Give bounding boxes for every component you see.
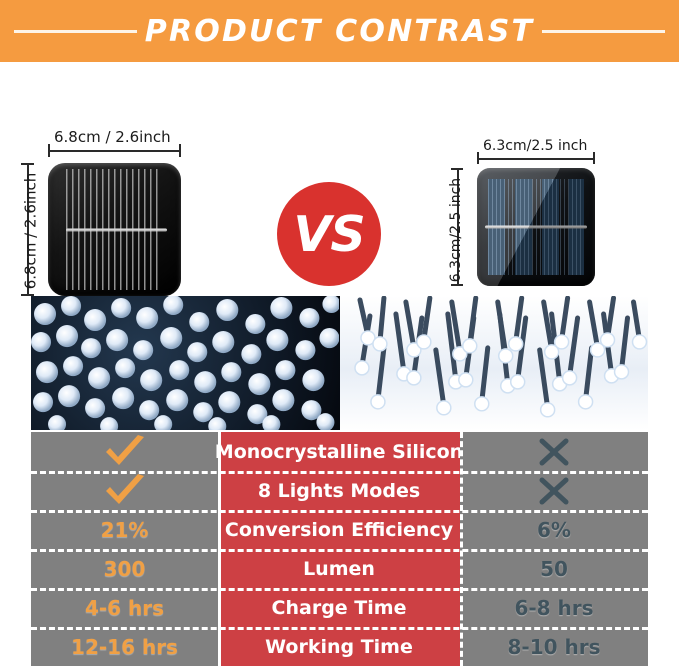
others-cell: 50 bbox=[460, 549, 648, 588]
ours-led-bulbs-icon bbox=[31, 296, 339, 430]
banner-inner: PRODUCT CONTRAST bbox=[0, 14, 679, 49]
ours-cell: 12-16 hrs bbox=[31, 627, 218, 666]
others-value: 50 bbox=[540, 557, 568, 581]
ours-width-dimension-line bbox=[48, 150, 181, 152]
ours-value: 300 bbox=[104, 557, 146, 581]
page-title: PRODUCT CONTRAST bbox=[137, 14, 542, 49]
vs-label: VS bbox=[293, 206, 364, 263]
feature-label: Lumen bbox=[303, 558, 375, 580]
ours-width-tick-left bbox=[48, 144, 50, 157]
row-divider bbox=[31, 471, 648, 474]
table-row: 8 Lights Modes bbox=[31, 471, 648, 510]
ours-cell: 4-6 hrs bbox=[31, 588, 218, 627]
others-solar-panel-image bbox=[477, 168, 595, 286]
others-value: 6-8 hrs bbox=[514, 596, 593, 620]
row-divider bbox=[31, 627, 648, 630]
banner-rule-left bbox=[14, 30, 137, 33]
others-height-tick-top bbox=[451, 168, 463, 170]
others-led-bulbs-icon bbox=[340, 296, 648, 430]
photo-comparison-strip bbox=[31, 296, 648, 430]
row-divider bbox=[31, 549, 648, 552]
ours-value: 21% bbox=[101, 518, 149, 542]
others-width-label: 6.3cm/2.5 inch bbox=[483, 138, 587, 154]
ours-panel-busbar bbox=[66, 228, 167, 231]
table-row: Monocrystalline Silicon bbox=[31, 432, 648, 471]
others-cell: 6-8 hrs bbox=[460, 588, 648, 627]
ours-width-label: 6.8cm / 2.6inch bbox=[54, 128, 171, 146]
feature-label: 8 Lights Modes bbox=[258, 480, 420, 502]
others-height-label: 6.3cm/2.5 inch bbox=[448, 178, 464, 282]
others-width-tick-right bbox=[593, 152, 595, 164]
ours-led-photo bbox=[31, 296, 340, 430]
ours-value: 12-16 hrs bbox=[71, 635, 178, 659]
others-value: 8-10 hrs bbox=[507, 635, 600, 659]
others-panel-gloss bbox=[477, 168, 595, 286]
cross-icon bbox=[537, 476, 571, 506]
feature-cell: 8 Lights Modes bbox=[218, 471, 460, 510]
feature-label: Monocrystalline Silicon bbox=[215, 441, 463, 463]
table-row: 4-6 hrs Charge Time 6-8 hrs bbox=[31, 588, 648, 627]
banner-rule-right bbox=[542, 30, 665, 33]
column-divider-right bbox=[460, 432, 463, 666]
ours-height-label: 6.8cm / 2.6inch bbox=[21, 173, 39, 290]
page-header-banner: PRODUCT CONTRAST bbox=[0, 0, 679, 62]
ours-height-tick-top bbox=[21, 163, 34, 165]
comparison-table: Monocrystalline Silicon 8 Lights Modes 2… bbox=[31, 432, 648, 666]
table-row: 21% Conversion Efficiency 6% bbox=[31, 510, 648, 549]
column-divider-left bbox=[218, 432, 221, 666]
feature-cell: Monocrystalline Silicon bbox=[218, 432, 460, 471]
feature-cell: Lumen bbox=[218, 549, 460, 588]
others-cell: 6% bbox=[460, 510, 648, 549]
others-cell bbox=[460, 432, 648, 471]
row-divider bbox=[31, 588, 648, 591]
others-width-tick-left bbox=[477, 152, 479, 164]
panel-comparison-section: 6.8cm / 2.6inch 6.8cm / 2.6inch OURS VS … bbox=[0, 62, 679, 290]
ours-cell bbox=[31, 471, 218, 510]
others-led-photo bbox=[340, 296, 649, 430]
others-width-dimension-line bbox=[477, 158, 595, 160]
table-row: 300 Lumen 50 bbox=[31, 549, 648, 588]
feature-label: Charge Time bbox=[272, 597, 407, 619]
cross-icon bbox=[537, 437, 571, 467]
others-cell bbox=[460, 471, 648, 510]
ours-cell bbox=[31, 432, 218, 471]
feature-label: Conversion Efficiency bbox=[225, 519, 453, 541]
feature-cell: Charge Time bbox=[218, 588, 460, 627]
feature-cell: Conversion Efficiency bbox=[218, 510, 460, 549]
others-value: 6% bbox=[537, 518, 571, 542]
others-height-tick-bottom bbox=[451, 284, 463, 286]
ours-cell: 300 bbox=[31, 549, 218, 588]
check-icon bbox=[102, 435, 148, 469]
feature-cell: Working Time bbox=[218, 627, 460, 666]
row-divider bbox=[31, 510, 648, 513]
ours-value: 4-6 hrs bbox=[85, 596, 164, 620]
check-icon bbox=[102, 474, 148, 508]
feature-label: Working Time bbox=[265, 636, 413, 658]
ours-cell: 21% bbox=[31, 510, 218, 549]
table-row: 12-16 hrs Working Time 8-10 hrs bbox=[31, 627, 648, 666]
others-cell: 8-10 hrs bbox=[460, 627, 648, 666]
ours-solar-panel-image bbox=[48, 163, 181, 296]
ours-width-tick-right bbox=[179, 144, 181, 157]
vs-badge: VS bbox=[277, 182, 381, 286]
